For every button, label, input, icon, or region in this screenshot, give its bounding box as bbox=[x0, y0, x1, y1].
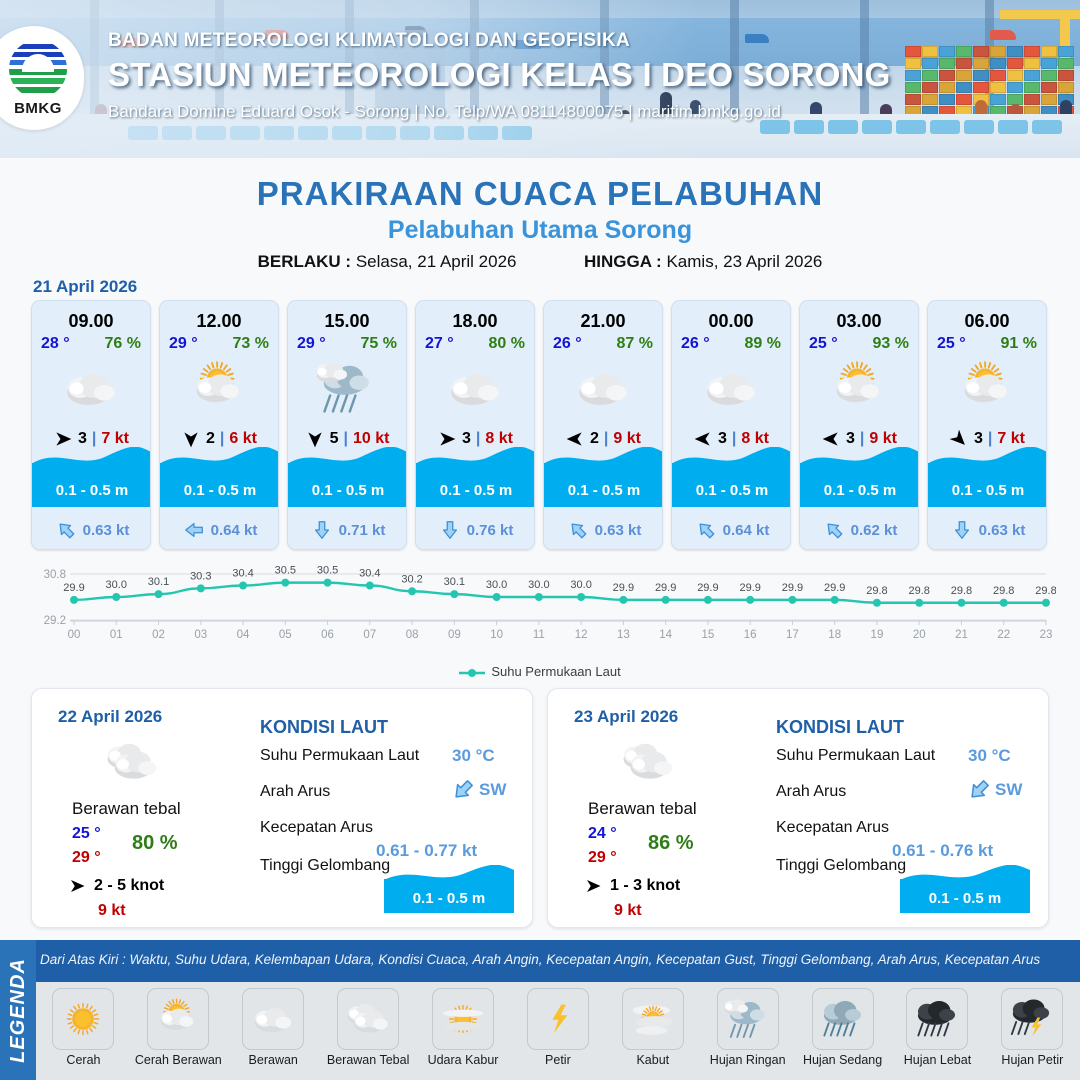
x-tick-label: 16 bbox=[744, 629, 757, 641]
card-temp-humidity: 29 ° 73 % bbox=[160, 332, 278, 353]
legend-item-icon bbox=[717, 988, 779, 1050]
card-time: 09.00 bbox=[32, 311, 150, 332]
wind-direction-icon bbox=[68, 877, 86, 895]
cerah-berawan-icon bbox=[957, 358, 1017, 418]
page-header: BMKG BADAN METEOROLOGI KLIMATOLOGI DAN G… bbox=[0, 0, 1080, 158]
panel-date: 22 April 2026 bbox=[58, 707, 162, 727]
card-temp-humidity: 25 ° 93 % bbox=[800, 332, 918, 353]
legend-item: Petir bbox=[510, 988, 605, 1067]
wave-shape bbox=[416, 447, 535, 469]
chair-shape bbox=[998, 120, 1028, 134]
chart-point bbox=[450, 590, 458, 598]
card-time: 21.00 bbox=[544, 311, 662, 332]
card-temp-humidity: 26 ° 87 % bbox=[544, 332, 662, 353]
wind-direction-icon bbox=[584, 877, 602, 895]
legend-item: Hujan Petir bbox=[985, 988, 1080, 1067]
chart-point-label: 30.0 bbox=[486, 579, 507, 591]
legend-item: Cerah Berawan bbox=[131, 988, 226, 1067]
card-weather-icon bbox=[160, 357, 278, 419]
valid-from-value: Selasa, 21 April 2026 bbox=[356, 252, 517, 271]
berawan-icon bbox=[573, 358, 633, 418]
current-direction-icon bbox=[562, 514, 593, 545]
panel-date: 23 April 2026 bbox=[574, 707, 678, 727]
panel-condition: Berawan tebal bbox=[588, 799, 697, 819]
card-temperature: 26 ° bbox=[553, 335, 582, 353]
panel-gust: 9 kt bbox=[614, 902, 642, 920]
panel-humidity: 86 % bbox=[648, 832, 694, 855]
valid-until-label: HINGGA : bbox=[584, 252, 662, 271]
card-wind-speed: 3 bbox=[718, 430, 727, 448]
x-tick-label: 13 bbox=[617, 629, 630, 641]
chart-point bbox=[577, 593, 585, 601]
legend-note: Dari Atas Kiri : Waktu, Suhu Udara, Kele… bbox=[40, 952, 1076, 967]
card-temp-humidity: 29 ° 75 % bbox=[288, 332, 406, 353]
legend-item-icon bbox=[812, 988, 874, 1050]
chair-shape bbox=[828, 120, 858, 134]
chair-shape bbox=[964, 120, 994, 134]
card-current-speed: 0.76 kt bbox=[467, 522, 514, 539]
card-current-row: 0.62 kt bbox=[800, 519, 919, 541]
card-gust-speed: 8 kt bbox=[741, 430, 769, 448]
panel-row-sst: Suhu Permukaan Laut bbox=[260, 747, 419, 765]
wave-shape bbox=[32, 447, 151, 469]
card-humidity: 93 % bbox=[873, 335, 909, 353]
chart-point-label: 30.5 bbox=[317, 565, 338, 577]
chart-point bbox=[324, 579, 332, 587]
legend-item-label: Hujan Lebat bbox=[904, 1053, 971, 1067]
card-humidity: 89 % bbox=[745, 335, 781, 353]
card-gust-speed: 9 kt bbox=[613, 430, 641, 448]
current-direction-icon bbox=[445, 772, 482, 809]
chart-point bbox=[493, 593, 501, 601]
chart-point bbox=[112, 593, 120, 601]
chart-point-label: 29.8 bbox=[909, 585, 930, 597]
hujan-ringan-icon bbox=[317, 358, 377, 418]
valid-from-label: BERLAKU : bbox=[258, 252, 352, 271]
panel-val-current-dir: SW bbox=[966, 777, 1022, 803]
chair-shape bbox=[1032, 120, 1062, 134]
card-temperature: 25 ° bbox=[937, 335, 966, 353]
card-wave-zone: 0.1 - 0.5 m bbox=[928, 450, 1047, 507]
current-direction-icon bbox=[818, 514, 849, 545]
panel-weather-icon bbox=[606, 737, 690, 787]
card-current-speed: 0.63 kt bbox=[83, 522, 130, 539]
chart-canvas: 30.829.229.930.030.130.330.430.530.530.4… bbox=[24, 562, 1056, 646]
legend-item-label: Hujan Ringan bbox=[710, 1053, 786, 1067]
legend-icon-list: Cerah Cerah Berawan Berawan bbox=[36, 982, 1080, 1080]
forecast-card[interactable]: 09.00 28 ° 76 % 3 | 7 kt 0.1 bbox=[31, 300, 151, 550]
card-wind-speed: 5 bbox=[330, 430, 339, 448]
legend-item-icon bbox=[622, 988, 684, 1050]
legend-side-text: LEGENDA bbox=[7, 958, 30, 1063]
daily-summary-panel: 23 April 2026 Berawan tebal 24 ° 29 ° 86… bbox=[547, 688, 1049, 928]
legend-item: Berawan Tebal bbox=[321, 988, 416, 1067]
hujan-lebat-icon bbox=[914, 996, 960, 1042]
card-time: 18.00 bbox=[416, 311, 534, 332]
chair-shape bbox=[760, 120, 790, 134]
panel-wave-height: 0.1 - 0.5 m bbox=[900, 890, 1030, 907]
card-weather-icon bbox=[288, 357, 406, 419]
legend-side-label: LEGENDA bbox=[0, 940, 36, 1080]
chart-point bbox=[619, 596, 627, 604]
forecast-card[interactable]: 03.00 25 ° 93 % 3 | 9 kt bbox=[799, 300, 919, 550]
forecast-card[interactable]: 00.00 26 ° 89 % 3 | 8 kt 0.1 bbox=[671, 300, 791, 550]
legend-item-label: Hujan Sedang bbox=[803, 1053, 882, 1067]
chart-point bbox=[408, 587, 416, 595]
x-tick-label: 02 bbox=[152, 629, 165, 641]
card-temperature: 25 ° bbox=[809, 335, 838, 353]
legend-item-label: Cerah Berawan bbox=[135, 1053, 222, 1067]
panel-val-current-speed: 0.61 - 0.77 kt bbox=[376, 841, 477, 861]
berawan-icon bbox=[701, 358, 761, 418]
x-tick-label: 14 bbox=[659, 629, 672, 641]
sst-chart: 30.829.229.930.030.130.330.430.530.530.4… bbox=[24, 562, 1056, 646]
chart-point bbox=[239, 582, 247, 590]
card-temperature: 28 ° bbox=[41, 335, 70, 353]
wind-direction-icon bbox=[53, 429, 73, 449]
station-name: STASIUN METEOROLOGI KELAS I DEO SORONG bbox=[108, 56, 1048, 94]
panel-current-dir-text: SW bbox=[995, 780, 1022, 800]
current-direction-icon bbox=[439, 519, 461, 541]
current-direction-icon bbox=[311, 519, 333, 541]
chart-point-label: 30.1 bbox=[148, 576, 169, 588]
chair-shape bbox=[930, 120, 960, 134]
card-weather-icon bbox=[544, 357, 662, 419]
chair-shape bbox=[862, 120, 892, 134]
y-tick-max: 30.8 bbox=[44, 569, 66, 581]
panel-humidity: 80 % bbox=[132, 832, 178, 855]
chair-shape bbox=[794, 120, 824, 134]
panel-row-current-dir: Arah Arus bbox=[260, 783, 330, 801]
chart-point bbox=[155, 590, 163, 598]
cerah-berawan-icon bbox=[189, 358, 249, 418]
cerah-icon bbox=[60, 996, 106, 1042]
panel-row-wave: Tinggi Gelombang bbox=[776, 857, 906, 875]
berawan-tebal-icon bbox=[104, 734, 160, 790]
card-wave-height: 0.1 - 0.5 m bbox=[928, 482, 1047, 499]
card-wind-separator: | bbox=[604, 430, 608, 448]
wave-shape bbox=[800, 447, 919, 469]
chart-point-label: 29.9 bbox=[613, 582, 634, 594]
card-wave-height: 0.1 - 0.5 m bbox=[800, 482, 919, 499]
chart-point-label: 30.4 bbox=[359, 568, 380, 580]
chart-point bbox=[831, 596, 839, 604]
forecast-card[interactable]: 12.00 29 ° 73 % 2 | 6 kt bbox=[159, 300, 279, 550]
card-current-row: 0.64 kt bbox=[160, 519, 279, 541]
wave-shape bbox=[160, 447, 279, 469]
legend-item: Hujan Lebat bbox=[890, 988, 985, 1067]
card-humidity: 76 % bbox=[105, 335, 141, 353]
panel-val-current-speed: 0.61 - 0.76 kt bbox=[892, 841, 993, 861]
wave-shape bbox=[544, 447, 663, 469]
x-tick-label: 06 bbox=[321, 629, 334, 641]
legend-item-label: Cerah bbox=[66, 1053, 100, 1067]
panel-val-current-dir: SW bbox=[450, 777, 506, 803]
card-current-row: 0.64 kt bbox=[672, 519, 791, 541]
chart-line bbox=[74, 583, 1046, 603]
wave-shape bbox=[928, 447, 1047, 469]
cerah-berawan-icon bbox=[829, 358, 889, 418]
forecast-card[interactable]: 18.00 27 ° 80 % 3 | 8 kt 0.1 bbox=[415, 300, 535, 550]
legend-item: Hujan Ringan bbox=[700, 988, 795, 1067]
wind-direction-icon bbox=[305, 429, 325, 449]
x-tick-label: 00 bbox=[68, 629, 81, 641]
y-tick-min: 29.2 bbox=[44, 615, 66, 627]
station-contact: Bandara Domine Eduard Osok - Sorong | No… bbox=[108, 102, 1048, 122]
panel-condition: Berawan tebal bbox=[72, 799, 181, 819]
forecast-card[interactable]: 15.00 29 ° 75 % 5 | 10 kt bbox=[287, 300, 407, 550]
container-shape bbox=[1058, 46, 1074, 57]
card-wave-height: 0.1 - 0.5 m bbox=[288, 482, 407, 499]
card-current-row: 0.63 kt bbox=[32, 519, 151, 541]
chart-point-label: 30.0 bbox=[106, 579, 127, 591]
panel-val-sst: 30 °C bbox=[968, 746, 1011, 766]
card-gust-speed: 7 kt bbox=[997, 430, 1025, 448]
chart-point-label: 29.9 bbox=[655, 582, 676, 594]
chart-point-label: 29.8 bbox=[866, 585, 887, 597]
card-current-speed: 0.62 kt bbox=[851, 522, 898, 539]
x-tick-label: 08 bbox=[406, 629, 419, 641]
panel-wave-height: 0.1 - 0.5 m bbox=[384, 890, 514, 907]
panel-weather-icon bbox=[90, 737, 174, 787]
wind-direction-icon bbox=[821, 429, 841, 449]
panel-wave-graphic: 0.1 - 0.5 m bbox=[900, 865, 1030, 913]
panel-row-current-speed: Kecepatan Arus bbox=[260, 819, 373, 837]
legend-item-icon bbox=[527, 988, 589, 1050]
chart-point bbox=[366, 582, 374, 590]
card-time: 06.00 bbox=[928, 311, 1046, 332]
chart-legend: Suhu Permukaan Laut bbox=[0, 664, 1080, 679]
card-humidity: 80 % bbox=[489, 335, 525, 353]
chart-point-label: 29.9 bbox=[697, 582, 718, 594]
card-current-row: 0.63 kt bbox=[928, 519, 1047, 541]
panel-wave-graphic: 0.1 - 0.5 m bbox=[384, 865, 514, 913]
panel-row-sst: Suhu Permukaan Laut bbox=[776, 747, 935, 765]
chart-point-label: 30.2 bbox=[401, 573, 422, 585]
panel-section-title: KONDISI LAUT bbox=[260, 717, 388, 738]
legend-item-label: Berawan Tebal bbox=[327, 1053, 409, 1067]
x-tick-label: 22 bbox=[997, 629, 1010, 641]
berawan-icon bbox=[61, 358, 121, 418]
legend-item-label: Kabut bbox=[636, 1053, 669, 1067]
card-wave-height: 0.1 - 0.5 m bbox=[416, 482, 535, 499]
card-temperature: 29 ° bbox=[169, 335, 198, 353]
x-tick-label: 11 bbox=[533, 629, 545, 641]
card-wave-height: 0.1 - 0.5 m bbox=[160, 482, 279, 499]
panel-gust: 9 kt bbox=[98, 902, 126, 920]
chart-point-label: 29.9 bbox=[739, 582, 760, 594]
chart-point bbox=[957, 599, 965, 607]
chart-point bbox=[197, 584, 205, 592]
panel-row-current-speed: Kecepatan Arus bbox=[776, 819, 889, 837]
legend-item-label: Udara Kabur bbox=[428, 1053, 499, 1067]
legend-item: Berawan bbox=[226, 988, 321, 1067]
card-time: 00.00 bbox=[672, 311, 790, 332]
x-tick-label: 18 bbox=[828, 629, 841, 641]
card-wind-speed: 2 bbox=[590, 430, 599, 448]
chart-point-label: 29.9 bbox=[782, 582, 803, 594]
card-humidity: 75 % bbox=[361, 335, 397, 353]
chart-point-label: 29.8 bbox=[1035, 585, 1056, 597]
chart-point bbox=[1042, 599, 1050, 607]
container-shape bbox=[1058, 58, 1074, 69]
chart-point-label: 30.0 bbox=[528, 579, 549, 591]
x-tick-label: 05 bbox=[279, 629, 292, 641]
wind-direction-icon bbox=[565, 429, 585, 449]
chart-point bbox=[1000, 599, 1008, 607]
chart-point-label: 30.3 bbox=[190, 570, 211, 582]
page-title: PRAKIRAAN CUACA PELABUHAN bbox=[0, 175, 1080, 213]
card-wave-zone: 0.1 - 0.5 m bbox=[416, 450, 535, 507]
berawan-tebal-icon bbox=[345, 996, 391, 1042]
card-wind-separator: | bbox=[860, 430, 864, 448]
chart-point bbox=[704, 596, 712, 604]
legend-item: Udara Kabur bbox=[416, 988, 511, 1067]
legend-item-icon bbox=[242, 988, 304, 1050]
legend-item-icon bbox=[1001, 988, 1063, 1050]
card-gust-speed: 7 kt bbox=[101, 430, 129, 448]
card-temperature: 29 ° bbox=[297, 335, 326, 353]
chart-point-label: 30.0 bbox=[570, 579, 591, 591]
panel-row-wave: Tinggi Gelombang bbox=[260, 857, 390, 875]
legend-item-label: Berawan bbox=[249, 1053, 298, 1067]
card-temperature: 26 ° bbox=[681, 335, 710, 353]
x-tick-label: 09 bbox=[448, 629, 461, 641]
header-titles: BADAN METEOROLOGI KLIMATOLOGI DAN GEOFIS… bbox=[108, 30, 1048, 122]
card-current-speed: 0.71 kt bbox=[339, 522, 386, 539]
card-time: 15.00 bbox=[288, 311, 406, 332]
card-wave-zone: 0.1 - 0.5 m bbox=[160, 450, 279, 507]
card-current-speed: 0.64 kt bbox=[211, 522, 258, 539]
card-humidity: 73 % bbox=[233, 335, 269, 353]
card-gust-speed: 10 kt bbox=[353, 430, 389, 448]
wind-direction-icon bbox=[437, 429, 457, 449]
panel-temp-max: 29 ° bbox=[72, 849, 101, 867]
chart-point-label: 29.9 bbox=[824, 582, 845, 594]
chart-point bbox=[662, 596, 670, 604]
panel-wind-value: 1 - 3 knot bbox=[610, 877, 680, 895]
x-tick-label: 01 bbox=[110, 629, 123, 641]
current-direction-icon bbox=[50, 514, 81, 545]
chart-legend-label: Suhu Permukaan Laut bbox=[491, 664, 620, 679]
current-direction-icon bbox=[961, 772, 998, 809]
bmkg-logo-text: BMKG bbox=[14, 100, 62, 117]
legend-item: Cerah bbox=[36, 988, 131, 1067]
chart-point bbox=[788, 596, 796, 604]
x-tick-label: 04 bbox=[237, 629, 250, 641]
card-time: 12.00 bbox=[160, 311, 278, 332]
forecast-card[interactable]: 06.00 25 ° 91 % 3 | 7 kt bbox=[927, 300, 1047, 550]
chart-point bbox=[281, 579, 289, 587]
card-weather-icon bbox=[416, 357, 534, 419]
card-wind-separator: | bbox=[92, 430, 96, 448]
x-tick-label: 23 bbox=[1040, 629, 1053, 641]
legend-item: Hujan Sedang bbox=[795, 988, 890, 1067]
legend-item-label: Petir bbox=[545, 1053, 571, 1067]
x-tick-label: 20 bbox=[913, 629, 926, 641]
chart-point-label: 30.1 bbox=[444, 576, 465, 588]
forecast-day-label: 21 April 2026 bbox=[33, 277, 137, 297]
berawan-icon bbox=[445, 358, 505, 418]
card-current-speed: 0.63 kt bbox=[595, 522, 642, 539]
berawan-tebal-icon bbox=[620, 734, 676, 790]
card-current-speed: 0.64 kt bbox=[723, 522, 770, 539]
wave-shape bbox=[288, 447, 407, 469]
bmkg-logo-mark bbox=[9, 40, 67, 98]
x-tick-label: 17 bbox=[786, 629, 799, 641]
hujan-petir-icon bbox=[1009, 996, 1055, 1042]
wave-shape bbox=[900, 865, 1030, 885]
berawan-icon bbox=[250, 996, 296, 1042]
card-gust-speed: 9 kt bbox=[869, 430, 897, 448]
valid-until-value: Kamis, 23 April 2026 bbox=[666, 252, 822, 271]
legend-item-icon bbox=[906, 988, 968, 1050]
udara-kabur-icon bbox=[440, 996, 486, 1042]
hujan-sedang-icon bbox=[820, 996, 866, 1042]
card-wind-separator: | bbox=[220, 430, 224, 448]
x-tick-label: 19 bbox=[871, 629, 884, 641]
card-wave-zone: 0.1 - 0.5 m bbox=[288, 450, 407, 507]
current-direction-icon bbox=[690, 514, 721, 545]
x-tick-label: 21 bbox=[955, 629, 968, 641]
card-current-row: 0.63 kt bbox=[544, 519, 663, 541]
card-wind-speed: 3 bbox=[78, 430, 87, 448]
page-subtitle: Pelabuhan Utama Sorong bbox=[0, 216, 1080, 245]
cerah-berawan-icon bbox=[155, 996, 201, 1042]
chart-point bbox=[915, 599, 923, 607]
daily-summary-panel: 22 April 2026 Berawan tebal 25 ° 29 ° 80… bbox=[31, 688, 533, 928]
panel-row-current-dir: Arah Arus bbox=[776, 783, 846, 801]
card-wind-separator: | bbox=[988, 430, 992, 448]
card-humidity: 91 % bbox=[1001, 335, 1037, 353]
card-temp-humidity: 26 ° 89 % bbox=[672, 332, 790, 353]
wave-shape bbox=[672, 447, 791, 469]
card-weather-icon bbox=[800, 357, 918, 419]
card-gust-speed: 8 kt bbox=[485, 430, 513, 448]
x-tick-label: 10 bbox=[490, 629, 503, 641]
card-gust-speed: 6 kt bbox=[229, 430, 257, 448]
x-tick-label: 12 bbox=[575, 629, 588, 641]
daily-summary-panels: 22 April 2026 Berawan tebal 25 ° 29 ° 80… bbox=[31, 688, 1049, 928]
card-wind-speed: 3 bbox=[462, 430, 471, 448]
panel-wind: 1 - 3 knot bbox=[584, 877, 680, 895]
card-temp-humidity: 25 ° 91 % bbox=[928, 332, 1046, 353]
validity-row: BERLAKU : Selasa, 21 April 2026 HINGGA :… bbox=[0, 252, 1080, 272]
card-wave-height: 0.1 - 0.5 m bbox=[672, 482, 791, 499]
chair-shape bbox=[896, 120, 926, 134]
wind-direction-icon bbox=[693, 429, 713, 449]
card-temperature: 27 ° bbox=[425, 335, 454, 353]
chart-point-label: 30.4 bbox=[232, 568, 253, 580]
card-weather-icon bbox=[928, 357, 1046, 419]
chart-point bbox=[70, 596, 78, 604]
card-wave-height: 0.1 - 0.5 m bbox=[544, 482, 663, 499]
legend-item: Kabut bbox=[605, 988, 700, 1067]
forecast-card[interactable]: 21.00 26 ° 87 % 2 | 9 kt 0.1 bbox=[543, 300, 663, 550]
card-wave-zone: 0.1 - 0.5 m bbox=[800, 450, 919, 507]
panel-temp-max: 29 ° bbox=[588, 849, 617, 867]
panel-wind-value: 2 - 5 knot bbox=[94, 877, 164, 895]
card-current-speed: 0.63 kt bbox=[979, 522, 1026, 539]
panel-temp-min: 25 ° bbox=[72, 825, 101, 843]
panel-section-title: KONDISI LAUT bbox=[776, 717, 904, 738]
legend-item-icon bbox=[147, 988, 209, 1050]
chart-point bbox=[873, 599, 881, 607]
hujan-ringan-icon bbox=[725, 996, 771, 1042]
container-shape bbox=[1058, 70, 1074, 81]
chart-point bbox=[535, 593, 543, 601]
card-temp-humidity: 27 ° 80 % bbox=[416, 332, 534, 353]
